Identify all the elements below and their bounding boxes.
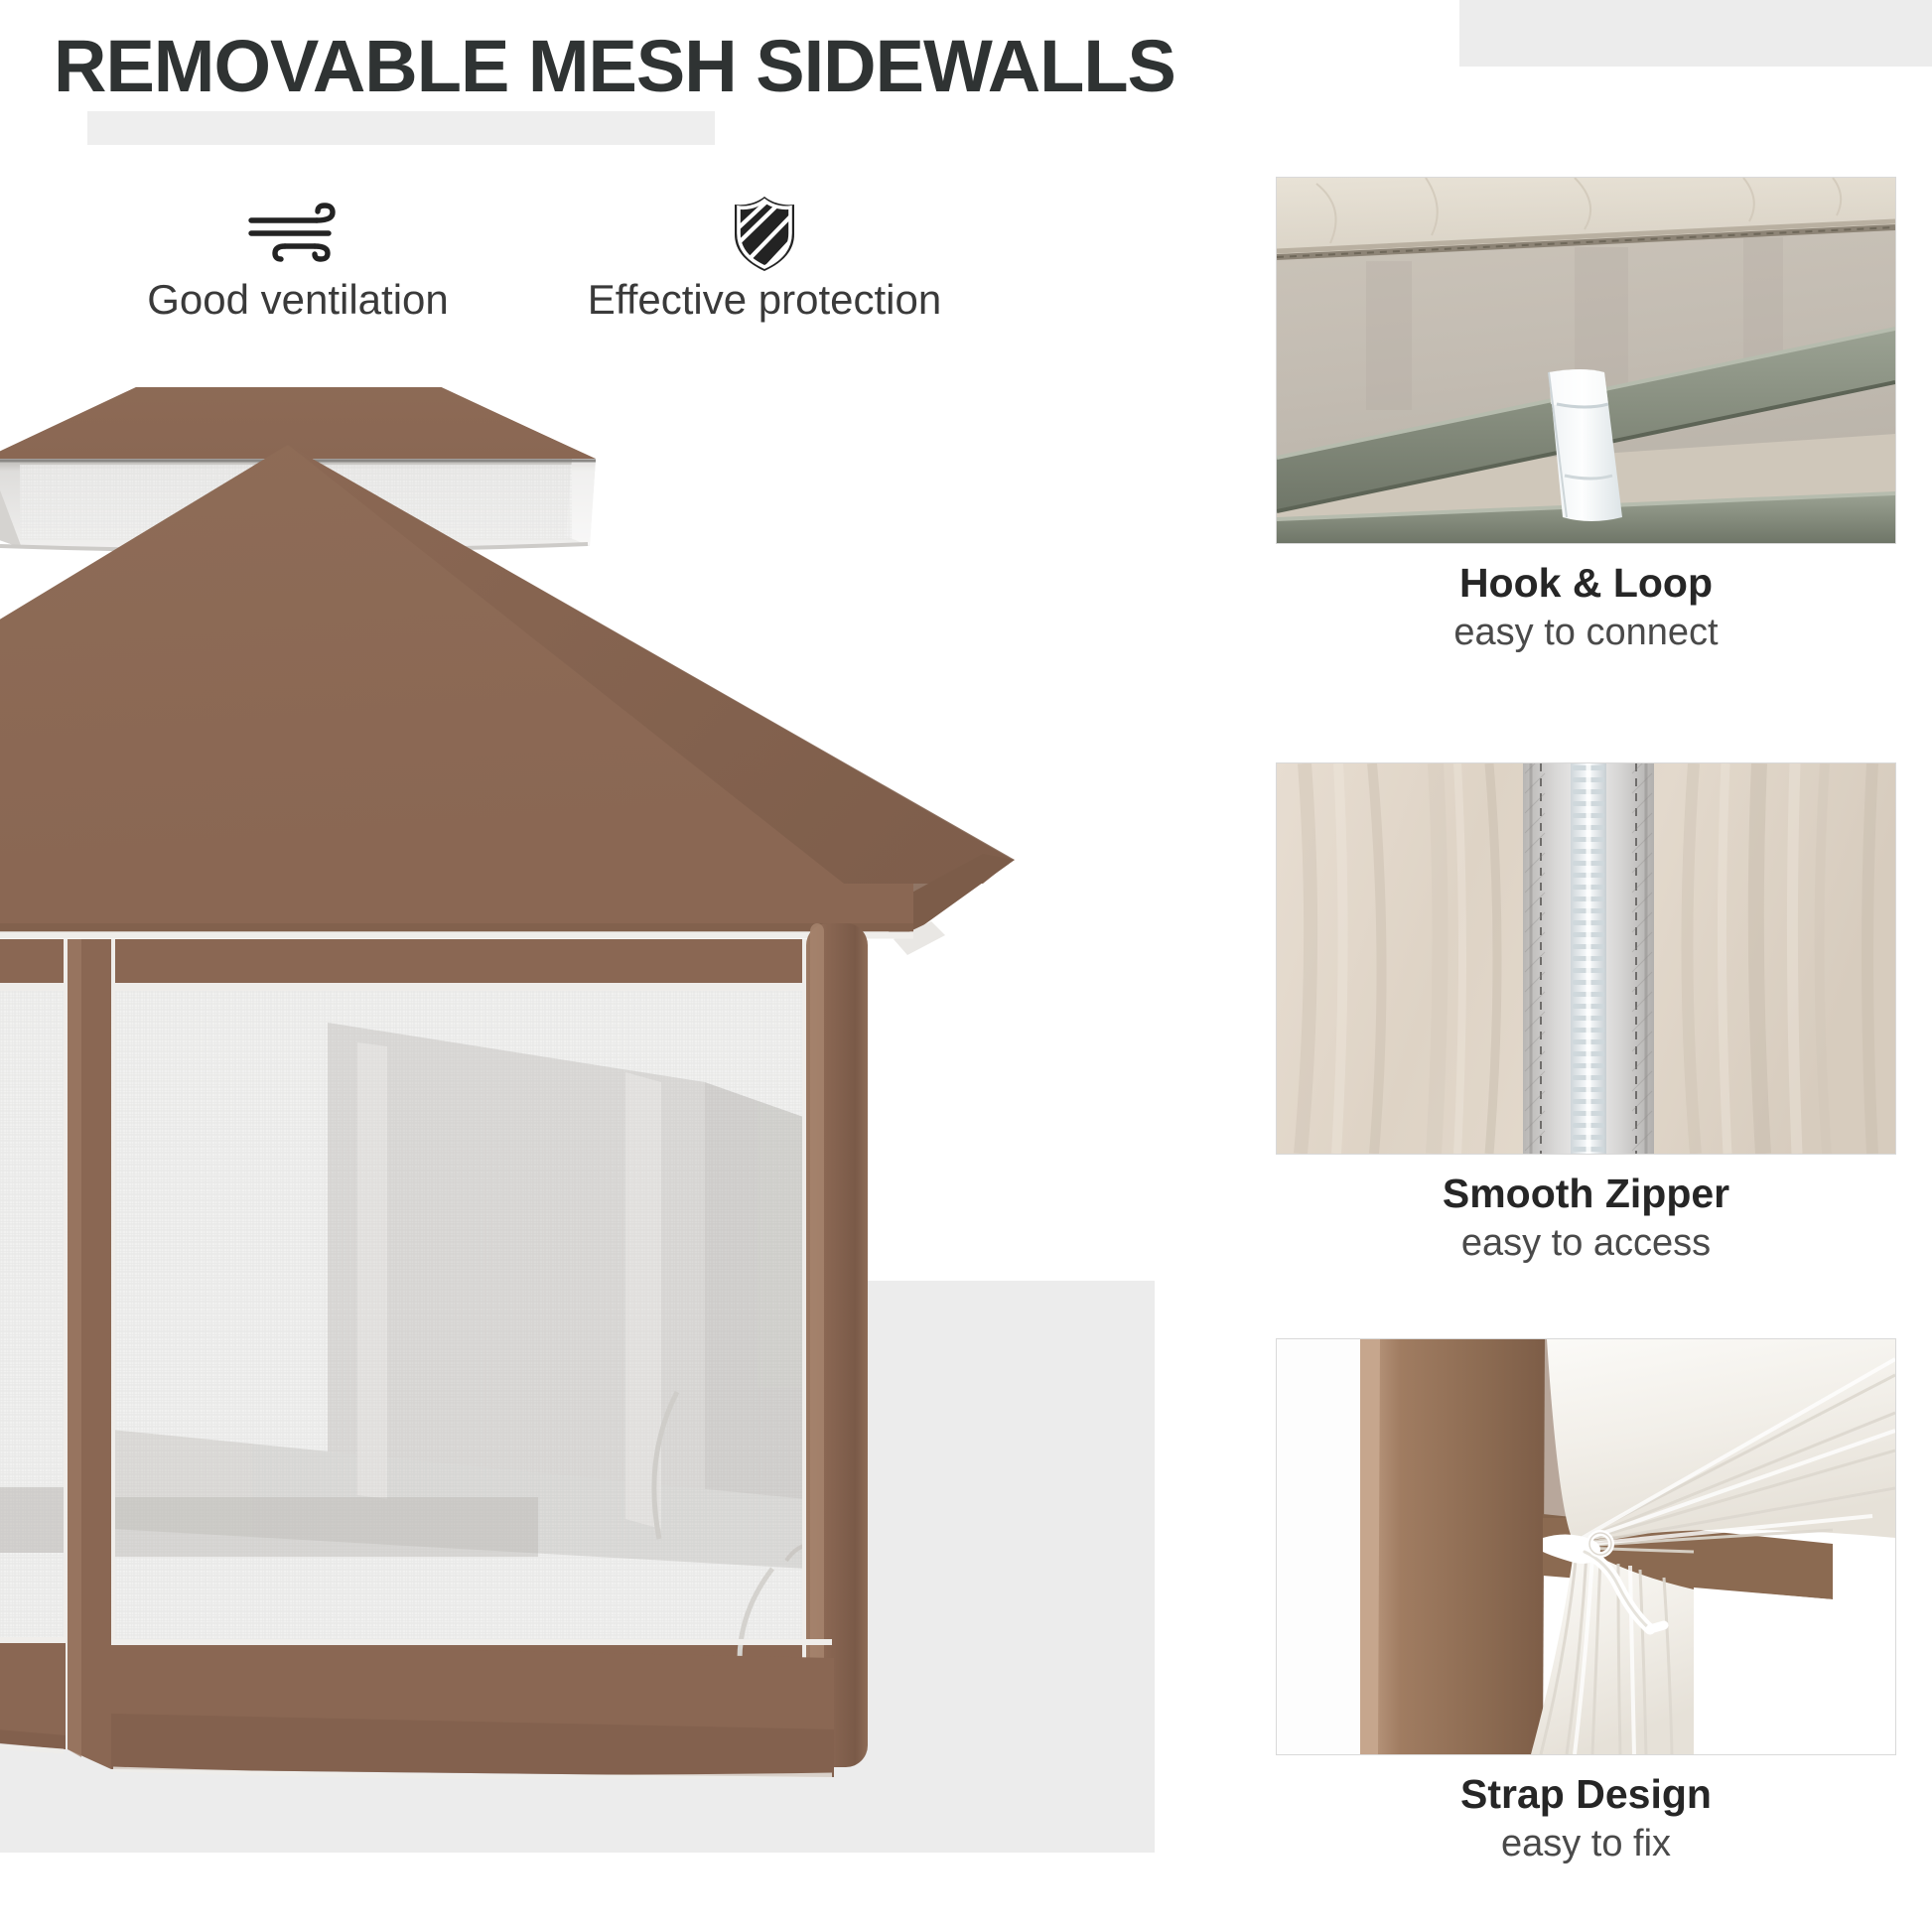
shield-icon xyxy=(536,199,993,268)
feature-label: Effective protection xyxy=(536,276,993,324)
feature-card-caption: Hook & Loop easy to connect xyxy=(1276,560,1896,656)
feature-card-title: Smooth Zipper xyxy=(1276,1171,1896,1217)
feature-card-caption: Strap Design easy to fix xyxy=(1276,1771,1896,1867)
feature-card: Smooth Zipper easy to access xyxy=(1276,762,1896,1267)
smooth-zipper-photo xyxy=(1276,762,1896,1155)
page-title: REMOVABLE MESH SIDEWALLS xyxy=(54,30,1175,103)
feature-good-ventilation: Good ventilation xyxy=(89,199,506,324)
feature-card-title: Hook & Loop xyxy=(1276,560,1896,607)
feature-card-caption: Smooth Zipper easy to access xyxy=(1276,1171,1896,1267)
feature-label: Good ventilation xyxy=(89,276,506,324)
feature-card-subtitle: easy to fix xyxy=(1276,1822,1896,1867)
infographic-canvas: REMOVABLE MESH SIDEWALLS Good ventilatio… xyxy=(0,0,1932,1932)
strap-design-photo xyxy=(1276,1338,1896,1755)
feature-effective-protection: Effective protection xyxy=(536,199,993,324)
gazebo-illustration xyxy=(0,387,1360,1837)
feature-card: Hook & Loop easy to connect xyxy=(1276,177,1896,656)
decor-grey-block-title-underline xyxy=(87,111,715,145)
feature-card-title: Strap Design xyxy=(1276,1771,1896,1818)
hook-and-loop-photo xyxy=(1276,177,1896,544)
feature-card-list: Hook & Loop easy to connect xyxy=(1276,177,1911,1924)
wind-icon xyxy=(89,199,506,268)
feature-row: Good ventilation xyxy=(60,199,993,328)
feature-card: Strap Design easy to fix xyxy=(1276,1338,1896,1867)
decor-grey-block-top-right xyxy=(1459,0,1932,67)
feature-card-subtitle: easy to access xyxy=(1276,1221,1896,1267)
feature-card-subtitle: easy to connect xyxy=(1276,611,1896,656)
